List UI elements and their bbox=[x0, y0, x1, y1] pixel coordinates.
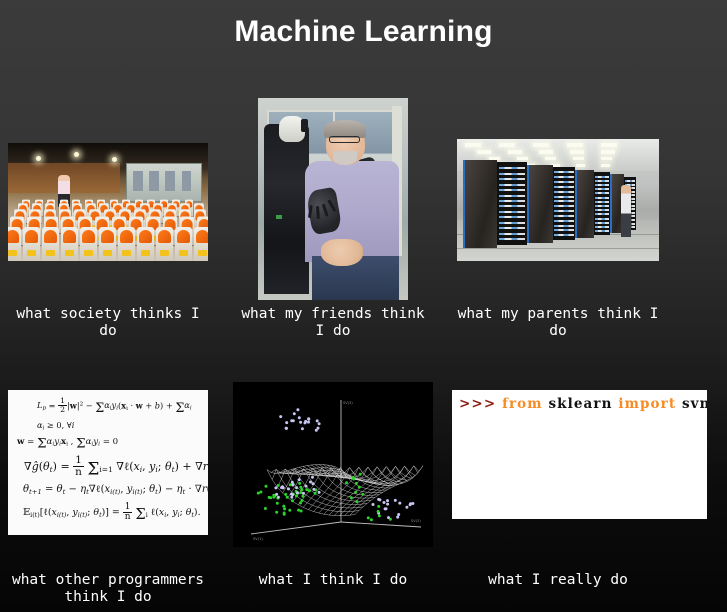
data-point-class-b bbox=[285, 427, 288, 430]
equation-sgd-update: θt+1 = θt − ηt∇ℓ(xi(t), yi(t); θt) − ηt … bbox=[23, 484, 201, 496]
data-point-class-b bbox=[311, 476, 314, 479]
data-point-class-a bbox=[289, 483, 292, 486]
data-point-class-b bbox=[292, 419, 295, 422]
robot-unit bbox=[118, 227, 135, 261]
data-point-class-b bbox=[301, 427, 304, 430]
man-glasses bbox=[329, 136, 361, 143]
data-point-class-a bbox=[257, 492, 260, 495]
data-point-class-a bbox=[367, 516, 370, 519]
data-point-class-b bbox=[318, 422, 321, 425]
data-point-class-a bbox=[265, 485, 268, 488]
data-point-class-b bbox=[277, 496, 280, 499]
ceiling-light bbox=[576, 164, 585, 167]
data-point-class-a bbox=[358, 486, 361, 489]
robot-torso bbox=[264, 124, 309, 294]
server-cabinet bbox=[575, 170, 594, 238]
token-import: import bbox=[618, 396, 676, 412]
data-point-class-b bbox=[372, 503, 375, 506]
ceiling-light bbox=[601, 164, 610, 167]
ceiling-light bbox=[499, 143, 515, 147]
robot-unit bbox=[61, 227, 78, 261]
image-python-console[interactable]: >>> from sklearn import svm bbox=[452, 390, 707, 519]
man-beard bbox=[333, 151, 357, 165]
data-point-class-a bbox=[295, 495, 298, 498]
data-point-class-a bbox=[352, 478, 355, 481]
data-point-class-b bbox=[295, 486, 298, 489]
equation-gradient-estimate: ∇ĝ(θt) = 1n Σi=1 ∇ℓ(xi, yi; θt) + ∇r(θt)… bbox=[24, 455, 201, 477]
robot-circuit-green bbox=[276, 215, 282, 219]
data-point-class-b bbox=[394, 499, 397, 502]
data-point-class-b bbox=[386, 503, 389, 506]
data-point-class-a bbox=[277, 484, 280, 487]
image-researcher-with-robot bbox=[258, 98, 408, 300]
data-point-class-a bbox=[370, 518, 373, 521]
data-point-class-b bbox=[409, 502, 412, 505]
data-point-class-b bbox=[315, 429, 318, 432]
open-server-rack bbox=[497, 162, 527, 245]
data-point-class-a bbox=[272, 494, 275, 497]
robot-unit bbox=[8, 227, 21, 261]
caption-friends: what my friends think I do bbox=[233, 306, 433, 340]
data-point-class-b bbox=[318, 491, 321, 494]
repl-line: >>> from sklearn import svm bbox=[459, 396, 707, 412]
open-server-rack bbox=[594, 172, 610, 235]
data-point-class-a bbox=[299, 502, 302, 505]
ceiling-light bbox=[601, 157, 612, 160]
data-point-class-a bbox=[350, 496, 353, 499]
data-point-class-b bbox=[298, 416, 301, 419]
open-server-rack bbox=[553, 167, 575, 240]
data-point-class-a bbox=[286, 496, 289, 499]
data-point-class-b bbox=[398, 502, 401, 505]
token-svm: svm bbox=[682, 396, 707, 412]
data-point-class-b bbox=[291, 481, 294, 484]
data-point-class-b bbox=[274, 486, 277, 489]
data-point-class-a bbox=[275, 511, 278, 514]
repl-prompt: >>> bbox=[459, 396, 496, 412]
equation-alpha-constraint: αi ≥ 0, ∀i bbox=[37, 420, 201, 432]
data-point-class-b bbox=[302, 492, 305, 495]
data-point-class-b bbox=[285, 421, 288, 424]
data-point-class-a bbox=[355, 500, 358, 503]
data-point-class-b bbox=[312, 488, 315, 491]
data-point-class-b bbox=[291, 484, 294, 487]
ceiling-light bbox=[567, 143, 583, 147]
image-svm-3d-plot: SV(1) SV(2) SV(3) bbox=[233, 382, 433, 547]
robot-unit bbox=[23, 227, 40, 261]
equation-lagrangian: Lp = 12|w|2 − Σαiyi(xi · w + b) + Σαi bbox=[37, 397, 201, 414]
data-point-class-a bbox=[301, 495, 304, 498]
meme-grid-page: Machine Learning what society thinks I d… bbox=[0, 0, 727, 612]
data-point-class-a bbox=[297, 509, 300, 512]
data-point-class-a bbox=[299, 491, 302, 494]
data-point-class-b bbox=[405, 506, 408, 509]
data-point-class-b bbox=[296, 408, 299, 411]
server-cabinet bbox=[527, 165, 553, 243]
token-from: from bbox=[502, 396, 543, 412]
equation-list: Lp = 12|w|2 − Σαiyi(xi · w + b) + Σαi αi… bbox=[8, 390, 208, 535]
technician bbox=[621, 185, 631, 236]
caption-i-really: what I really do bbox=[457, 572, 659, 589]
data-point-class-b bbox=[397, 513, 400, 516]
data-point-class-b bbox=[312, 482, 315, 485]
data-point-class-b bbox=[386, 499, 389, 502]
data-point-class-b bbox=[281, 485, 284, 488]
data-point-class-b bbox=[385, 507, 388, 510]
ceiling-light bbox=[465, 143, 481, 147]
data-point-class-a bbox=[389, 518, 392, 521]
data-point-class-a bbox=[377, 505, 380, 508]
caption-society: what society thinks I do bbox=[4, 306, 212, 340]
robot-unit bbox=[175, 227, 192, 261]
robot-unit bbox=[194, 227, 208, 261]
data-point-class-b bbox=[293, 412, 296, 415]
data-point-class-a bbox=[354, 491, 357, 494]
data-point-class-a bbox=[377, 510, 380, 513]
data-point-class-b bbox=[296, 491, 299, 494]
ceiling-light bbox=[570, 150, 584, 154]
equation-expectation: 𝔼i(t)[ℓ(xi(t), yi(t); θt)] = 1n Σi ℓ(xi,… bbox=[23, 503, 201, 522]
data-point-class-b bbox=[316, 419, 319, 422]
caption-parents: what my parents think I do bbox=[457, 306, 659, 340]
data-point-class-a bbox=[264, 507, 267, 510]
data-point-class-a bbox=[288, 509, 291, 512]
data-point-class-b bbox=[309, 481, 312, 484]
image-svm-equations: Lp = 12|w|2 − Σαiyi(xi · w + b) + Σαi αi… bbox=[8, 390, 208, 535]
data-point-class-a bbox=[299, 486, 302, 489]
data-point-class-b bbox=[307, 418, 310, 421]
robot-unit bbox=[137, 227, 154, 261]
data-point-class-a bbox=[259, 491, 262, 494]
data-point-class-a bbox=[305, 488, 308, 491]
robot-unit bbox=[80, 227, 97, 261]
robot-head bbox=[279, 116, 305, 142]
data-point-class-a bbox=[314, 492, 317, 495]
data-point-class-a bbox=[361, 493, 364, 496]
data-point-class-b bbox=[305, 485, 308, 488]
data-point-class-b bbox=[396, 516, 399, 519]
data-point-class-a bbox=[300, 488, 303, 491]
ceiling-light bbox=[539, 150, 553, 154]
plot-canvas: SV(1) SV(2) SV(3) bbox=[233, 382, 433, 547]
data-point-class-a bbox=[283, 507, 286, 510]
axis-label-2: SV(2) bbox=[411, 519, 421, 523]
wall-display-panel bbox=[126, 163, 202, 202]
data-point-class-a bbox=[378, 514, 381, 517]
data-point-class-a bbox=[283, 513, 286, 516]
axis-label-1: SV(1) bbox=[253, 537, 263, 541]
man-clasped-hands bbox=[321, 239, 363, 265]
ceiling-light bbox=[601, 150, 615, 154]
robot-unit bbox=[99, 227, 116, 261]
data-point-class-a bbox=[345, 481, 348, 484]
data-point-class-b bbox=[307, 421, 310, 424]
equation-w-expansion: w = Σαiyixi , Σαiyi = 0 bbox=[17, 437, 201, 448]
data-point-class-b bbox=[275, 493, 278, 496]
page-title: Machine Learning bbox=[0, 14, 727, 50]
server-cabinet bbox=[463, 160, 497, 248]
data-point-class-a bbox=[284, 493, 287, 496]
data-point-class-b bbox=[298, 478, 301, 481]
data-point-class-b bbox=[291, 493, 294, 496]
data-point-class-b bbox=[383, 501, 386, 504]
data-point-class-b bbox=[299, 421, 302, 424]
data-point-class-b bbox=[290, 496, 293, 499]
axis-label-3: SV(3) bbox=[343, 401, 353, 405]
image-supercomputer-room bbox=[457, 139, 659, 261]
data-point-class-b bbox=[287, 487, 290, 490]
data-point-class-a bbox=[282, 505, 285, 508]
ceiling-light bbox=[601, 143, 617, 147]
image-warehouse-of-humanoid-robots bbox=[8, 143, 208, 261]
ceiling-light bbox=[477, 150, 491, 154]
data-point-class-b bbox=[279, 415, 282, 418]
data-point-class-a bbox=[276, 502, 279, 505]
data-point-class-b bbox=[378, 498, 381, 501]
ceiling-light bbox=[573, 157, 584, 160]
ceiling-light bbox=[517, 157, 528, 160]
data-point-class-a bbox=[355, 482, 358, 485]
data-point-class-a bbox=[359, 473, 362, 476]
caption-i-think: what I think I do bbox=[233, 572, 433, 589]
robot-unit bbox=[156, 227, 173, 261]
ceiling-light bbox=[508, 150, 522, 154]
data-point-class-a bbox=[291, 499, 294, 502]
data-point-class-a bbox=[298, 482, 301, 485]
caption-other-programmers: what other programmers think I do bbox=[4, 572, 212, 606]
data-point-class-a bbox=[301, 499, 304, 502]
robot-unit bbox=[42, 227, 59, 261]
ceiling-light bbox=[545, 157, 556, 160]
ceiling-light bbox=[533, 143, 549, 147]
data-point-class-b bbox=[304, 421, 307, 424]
data-point-class-a bbox=[269, 496, 272, 499]
token-sklearn: sklearn bbox=[548, 396, 612, 412]
